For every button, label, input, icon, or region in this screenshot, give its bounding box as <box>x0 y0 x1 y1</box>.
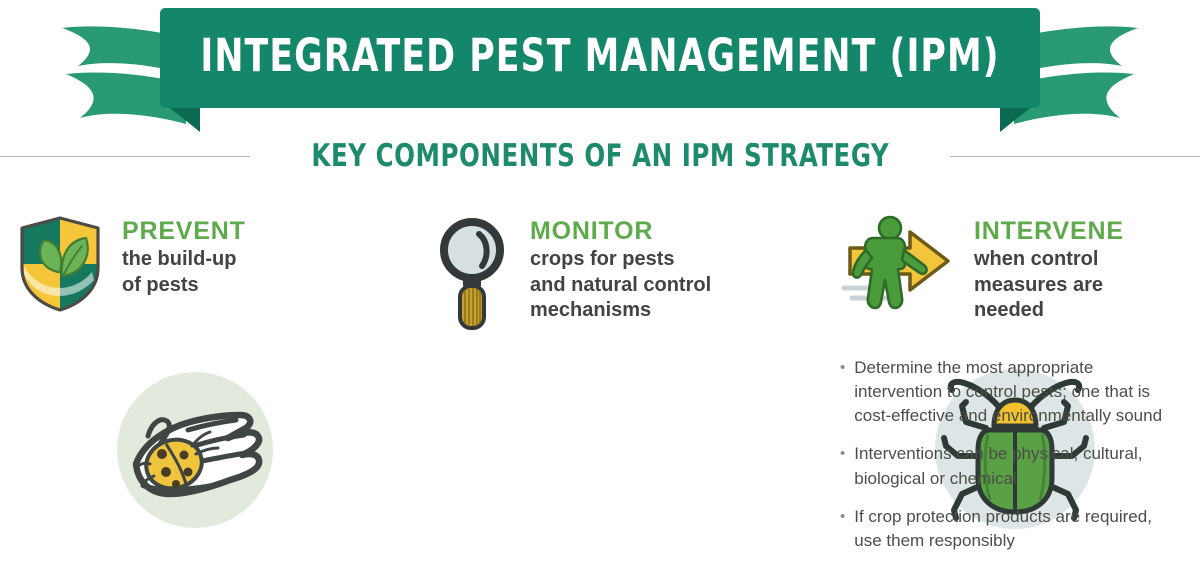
shield-leaf-icon <box>14 214 106 319</box>
list-item: • Determine the most appropriate interve… <box>840 356 1170 428</box>
intervene-text: INTERVENE when control measures are need… <box>974 214 1124 324</box>
bullet-text: Determine the most appropriate intervent… <box>854 356 1170 428</box>
component-monitor: MONITOR crops for pests and natural cont… <box>432 214 822 337</box>
bullet-marker-icon: • <box>840 442 845 490</box>
list-item: • If crop protection products are requir… <box>840 505 1170 553</box>
monitor-body-line1: crops for pests <box>530 247 711 273</box>
subtitle-rule-left <box>0 156 250 157</box>
subtitle-text: KEY COMPONENTS OF AN IPM STRATEGY <box>311 138 889 174</box>
bullet-marker-icon: • <box>840 505 845 553</box>
walking-person-arrow-icon <box>840 214 958 323</box>
intervene-body-line2: measures are <box>974 273 1124 299</box>
intervene-title: INTERVENE <box>974 218 1124 244</box>
hand-holding-ladybug-icon <box>104 360 286 545</box>
subtitle-rule-right <box>950 156 1200 157</box>
monitor-text: MONITOR crops for pests and natural cont… <box>530 214 711 324</box>
intervene-body-line1: when control <box>974 247 1124 273</box>
monitor-title: MONITOR <box>530 218 711 244</box>
component-intervene: INTERVENE when control measures are need… <box>840 214 1190 324</box>
component-prevent: PREVENT the build-up of pests <box>14 214 404 319</box>
person-shape <box>853 217 927 308</box>
subtitle-row: KEY COMPONENTS OF AN IPM STRATEGY <box>0 132 1200 180</box>
intervene-bullet-list: • Determine the most appropriate interve… <box>840 356 1170 567</box>
prevent-title: PREVENT <box>122 218 246 244</box>
prevent-text: PREVENT the build-up of pests <box>122 214 246 298</box>
monitor-body-line2: and natural control <box>530 273 711 299</box>
prevent-header: PREVENT the build-up of pests <box>14 214 404 319</box>
prevent-body-line2: of pests <box>122 273 246 299</box>
magnifying-glass-icon <box>432 214 514 337</box>
title-banner: INTEGRATED PEST MANAGEMENT (IPM) <box>0 0 1200 140</box>
monitor-header: MONITOR crops for pests and natural cont… <box>432 214 822 337</box>
prevent-body-line1: the build-up <box>122 247 246 273</box>
bullet-marker-icon: • <box>840 356 845 428</box>
bullet-text: If crop protection products are required… <box>854 505 1170 553</box>
banner-title: INTEGRATED PEST MANAGEMENT (IPM) <box>84 0 1116 110</box>
monitor-body-line3: mechanisms <box>530 298 711 324</box>
intervene-body-line3: needed <box>974 298 1124 324</box>
intervene-header: INTERVENE when control measures are need… <box>840 214 1190 324</box>
list-item: • Interventions can be physical, cultura… <box>840 442 1170 490</box>
bullet-text: Interventions can be physical, cultural,… <box>854 442 1170 490</box>
